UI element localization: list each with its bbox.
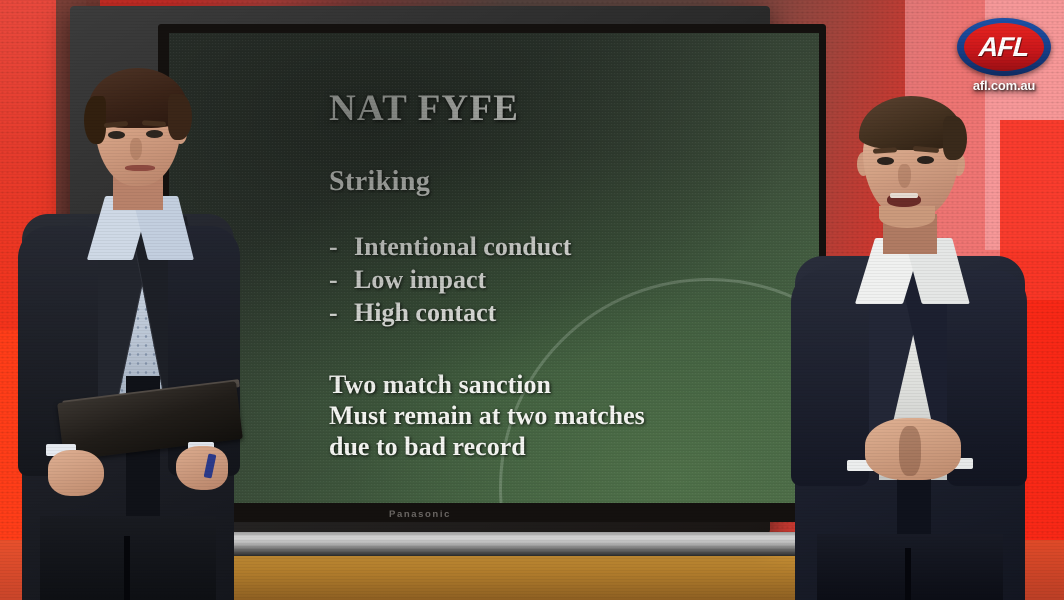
right-presenter xyxy=(795,86,1063,600)
left-presenter-hair-side-right xyxy=(168,94,192,140)
left-presenter-hair-side-left xyxy=(84,96,106,144)
left-presenter xyxy=(0,46,250,600)
afl-logo-url: afl.com.au xyxy=(950,78,1058,93)
afl-logo: AFL afl.com.au xyxy=(950,18,1058,93)
right-presenter-nose xyxy=(898,164,911,188)
right-presenter-hair-side xyxy=(943,116,967,160)
afl-oval-icon: AFL xyxy=(957,18,1051,76)
display-screen: CH NAT FYFE Striking - Intentional condu… xyxy=(169,33,819,503)
right-presenter-eye-left xyxy=(877,157,894,165)
right-presenter-teeth xyxy=(890,193,918,198)
right-presenter-hands-shadow xyxy=(899,426,921,476)
left-presenter-hand-right xyxy=(176,446,228,490)
right-presenter-chin xyxy=(879,206,935,228)
left-presenter-eye-right xyxy=(146,130,163,138)
right-presenter-eye-right xyxy=(917,156,934,164)
right-presenter-trouser-seam xyxy=(905,548,911,600)
left-presenter-hand-left xyxy=(48,450,104,496)
left-presenter-eye-left xyxy=(108,131,125,139)
left-presenter-trouser-seam xyxy=(124,536,130,600)
afl-logo-text: AFL xyxy=(978,32,1030,63)
left-presenter-mouth xyxy=(125,165,155,171)
broadcast-frame: CH NAT FYFE Striking - Intentional condu… xyxy=(0,0,1064,600)
display-stand-base xyxy=(215,532,855,556)
left-presenter-nose xyxy=(130,138,142,160)
screen-noise-texture xyxy=(169,33,819,503)
